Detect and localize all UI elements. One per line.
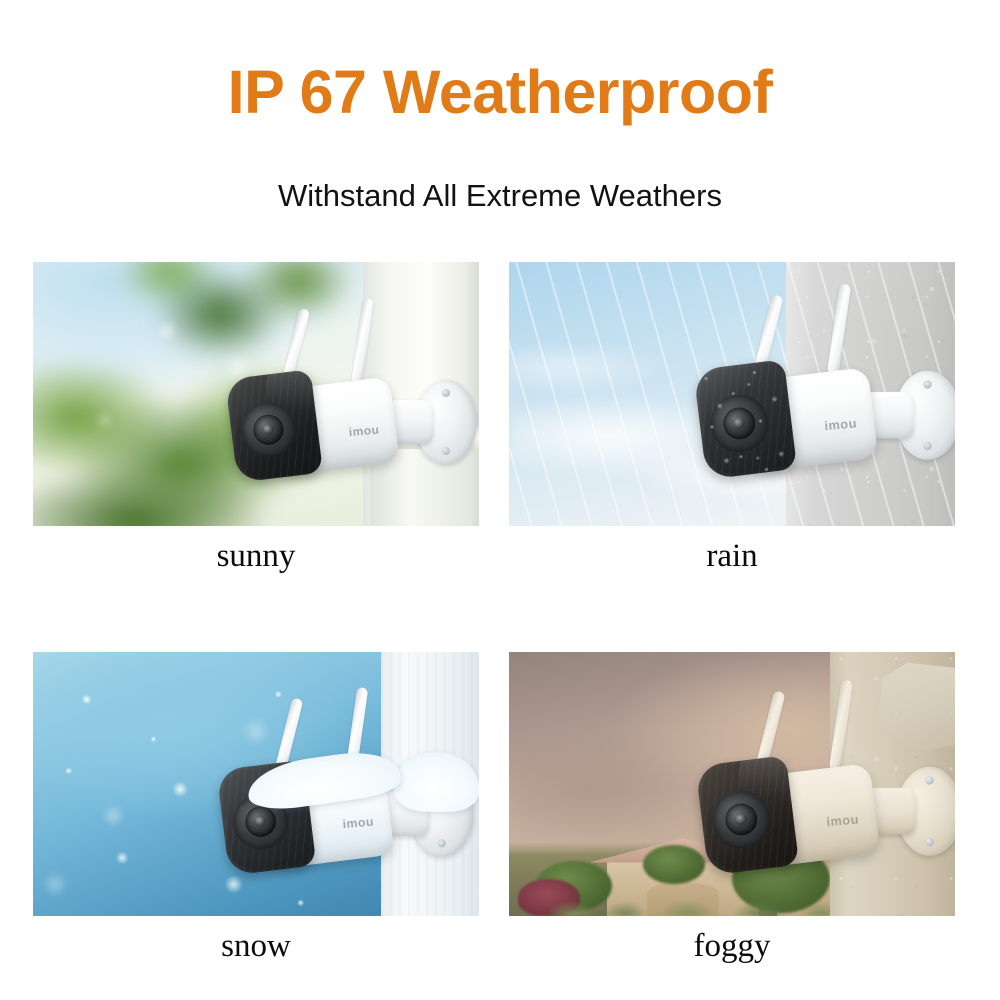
camera-front-face — [225, 369, 323, 483]
imou-brand-label: imou — [826, 812, 860, 830]
screw-icon — [438, 839, 446, 847]
panel-row-bottom: imou snow — [33, 652, 967, 966]
page-subtitle: Withstand All Extreme Weathers — [0, 180, 1000, 211]
weather-cell-foggy: imou foggy — [509, 652, 955, 966]
tree-icon — [643, 845, 705, 885]
weather-cell-snow: imou snow — [33, 652, 479, 966]
weatherproof-feature-page: IP 67 Weatherproof Withstand All Extreme… — [0, 0, 1000, 1000]
imou-brand-label: imou — [342, 814, 374, 831]
panel-image-sunny[interactable]: imou — [33, 262, 479, 526]
screw-icon — [923, 380, 931, 388]
snow-accumulation-mount — [394, 752, 479, 811]
camera-front-face — [695, 755, 799, 876]
panel-image-rain[interactable]: imou — [509, 262, 955, 526]
screw-icon — [925, 838, 933, 846]
weather-panel-grid: imou sunny — [33, 262, 967, 966]
caption-foggy: foggy — [509, 928, 955, 966]
caption-rain: rain — [509, 538, 955, 576]
security-camera-snow: imou — [221, 730, 476, 916]
panel-image-foggy[interactable]: imou — [509, 652, 955, 916]
weather-cell-rain: imou rain — [509, 262, 955, 576]
security-camera-rain: imou — [698, 328, 956, 526]
imou-brand-label: imou — [824, 416, 858, 434]
screw-icon — [923, 442, 931, 450]
weather-cell-sunny: imou sunny — [33, 262, 479, 576]
screw-icon — [442, 389, 450, 397]
caption-sunny: sunny — [33, 538, 479, 576]
screw-icon — [925, 776, 933, 784]
panel-image-snow[interactable]: imou — [33, 652, 479, 916]
caption-snow: snow — [33, 928, 479, 966]
screw-icon — [442, 447, 450, 455]
camera-front-face — [693, 359, 797, 480]
security-camera-foggy: imou — [700, 724, 956, 916]
page-title: IP 67 Weatherproof — [0, 62, 1000, 123]
panel-row-top: imou sunny — [33, 262, 967, 576]
imou-brand-label: imou — [349, 423, 381, 440]
security-camera-sunny: imou — [229, 340, 479, 526]
